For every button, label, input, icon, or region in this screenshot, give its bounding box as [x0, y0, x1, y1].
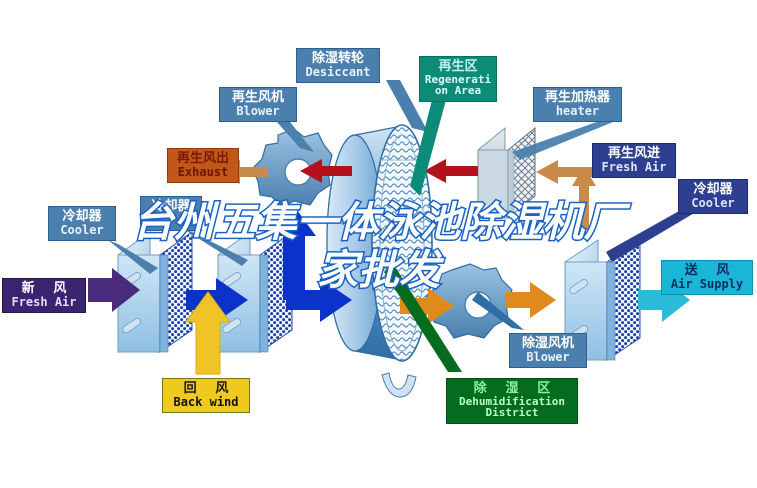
- label-dehum-blower: 除湿风机 Blower: [509, 333, 587, 368]
- label-regen-fresh-air-cn: 再生风进: [595, 147, 673, 161]
- arrow-regen-fresh-in: [536, 160, 596, 230]
- label-cooler-left: 冷却器 Cooler: [48, 206, 116, 241]
- arrow-blower-to-cooler: [505, 282, 556, 318]
- label-air-supply: 送 风 Air Supply: [661, 260, 753, 295]
- label-regen-exhaust: 再生风出 Exhaust: [167, 148, 239, 183]
- label-regen-fresh-air: 再生风进 Fresh Air: [592, 143, 676, 178]
- label-regeneration-area: 再生区 Regenerati on Area: [419, 56, 497, 102]
- label-dehum-blower-en: Blower: [512, 351, 584, 364]
- label-regen-heater: 再生加热器 heater: [533, 87, 622, 122]
- label-regeneration-area-cn: 再生区: [422, 60, 494, 74]
- label-fresh-air-intake-cn: 新 风: [5, 282, 83, 296]
- label-regeneration-area-en-2: on Area: [422, 85, 494, 97]
- label-regen-blower: 再生风机 Blower: [219, 87, 297, 122]
- label-dehum-blower-cn: 除湿风机: [512, 337, 584, 351]
- label-air-supply-cn: 送 风: [664, 264, 750, 278]
- label-cooler-left-upper: 冷却器: [140, 196, 202, 231]
- label-regen-exhaust-en: Exhaust: [170, 166, 236, 179]
- label-back-wind-cn: 回 风: [165, 382, 247, 396]
- label-cooler-right-cn: 冷却器: [681, 183, 745, 197]
- label-dehumidification-district-cn: 除 湿 区: [449, 382, 575, 396]
- label-regen-exhaust-cn: 再生风出: [170, 152, 236, 166]
- label-dehumidification-district: 除 湿 区 Dehumidification District: [446, 378, 578, 424]
- label-desiccant-wheel-cn: 除湿转轮: [299, 52, 377, 66]
- label-cooler-right: 冷却器 Cooler: [678, 179, 748, 214]
- label-desiccant-wheel-en: Desiccant: [299, 66, 377, 79]
- label-regen-heater-en: heater: [536, 105, 619, 118]
- label-cooler-right-en: Cooler: [681, 197, 745, 210]
- arrow-regen-hot-air: [424, 159, 478, 183]
- label-regen-blower-en: Blower: [222, 105, 294, 118]
- label-fresh-air-intake-en: Fresh Air: [5, 296, 83, 309]
- label-cooler-left-cn: 冷却器: [51, 210, 113, 224]
- label-air-supply-en: Air Supply: [664, 278, 750, 291]
- label-cooler-left-upper-cn: 冷却器: [143, 200, 199, 214]
- regen-heater-unit: [478, 128, 535, 218]
- label-dehumidification-district-en-2: District: [449, 407, 575, 419]
- label-regen-heater-cn: 再生加热器: [536, 91, 619, 105]
- label-regen-fresh-air-en: Fresh Air: [595, 161, 673, 174]
- label-fresh-air-intake: 新 风 Fresh Air: [2, 278, 86, 313]
- label-regen-blower-cn: 再生风机: [222, 91, 294, 105]
- label-cooler-left-en: Cooler: [51, 224, 113, 237]
- label-back-wind-en: Back wind: [165, 396, 247, 409]
- label-back-wind: 回 风 Back wind: [162, 378, 250, 413]
- diagram-canvas: 除湿转轮 Desiccant 再生风机 Blower 再生风出 Exhaust …: [0, 0, 757, 488]
- label-desiccant-wheel: 除湿转轮 Desiccant: [296, 48, 380, 83]
